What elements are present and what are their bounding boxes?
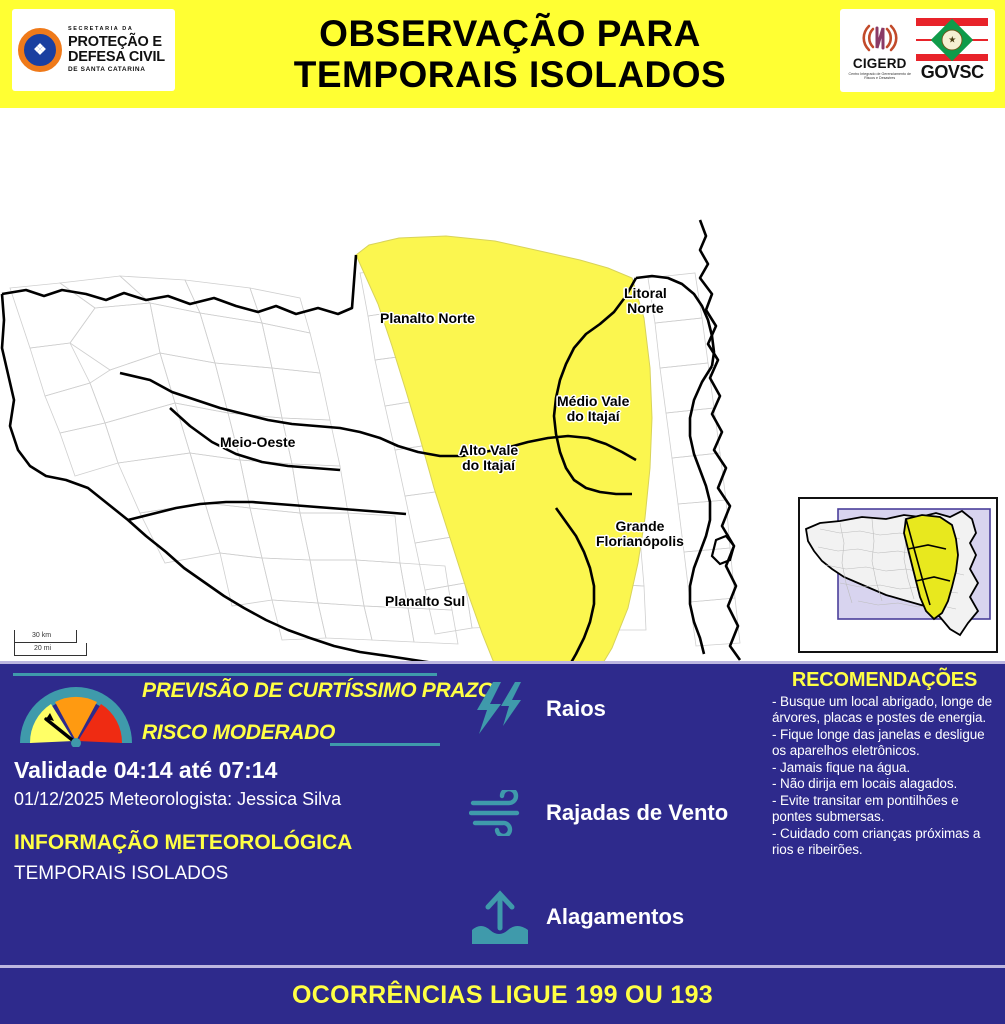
logo-pretitle: SECRETARIA DA — [68, 27, 165, 33]
hazard-item-rajadas-de-vento: Rajadas de Vento — [468, 783, 728, 843]
alert-poster: ❖ SECRETARIA DA PROTEÇÃO E DEFESA CIVIL … — [0, 0, 1005, 1024]
cigerd-waves-icon — [860, 21, 900, 55]
gov-text: GOV — [921, 62, 960, 82]
civil-defense-triangle-icon: ❖ — [33, 43, 46, 58]
hazard-label-alagamentos: Alagamentos — [546, 904, 684, 930]
wind-icon — [468, 783, 532, 843]
scale-mi-label: 20 mi — [34, 645, 51, 652]
recommendation-item: - Busque um local abrigado, longe de árv… — [772, 694, 997, 727]
hazard-list: Raios Rajadas de Vento — [468, 679, 758, 949]
panel-top-divider — [0, 661, 1005, 664]
santa-catarina-flag-icon: ★ — [916, 18, 988, 61]
lightning-icon — [468, 679, 532, 739]
meteorological-info-heading: INFORMAÇÃO METEOROLÓGICA — [14, 831, 352, 855]
risk-gauge — [16, 681, 136, 747]
hazard-item-alagamentos: Alagamentos — [468, 887, 684, 947]
logo-subtitle: DE SANTA CATARINA — [68, 67, 165, 74]
govsc-name: GOVSC — [921, 62, 984, 83]
meteorological-info-body: TEMPORAIS ISOLADOS — [14, 863, 228, 885]
forecast-rule-top — [13, 673, 437, 676]
recommendation-item: - Não dirija em locais alagados. — [772, 776, 997, 792]
inset-map-svg — [800, 499, 996, 651]
defesa-civil-emblem-icon: ❖ — [18, 28, 62, 72]
emergency-phone-text: OCORRÊNCIAS LIGUE 199 OU 193 — [0, 981, 1005, 1010]
page-title-line1: OBSERVAÇÃO PARA — [319, 13, 701, 54]
hazard-label-rajadas-de-vento: Rajadas de Vento — [546, 800, 728, 826]
forecast-rule-bottom — [330, 743, 440, 746]
meteorologist-line: 01/12/2025 Meteorologista: Jessica Silva — [14, 789, 341, 810]
cigerd-subtitle: Centro Integrado de Gerenciamento de Ris… — [846, 72, 914, 81]
recommendations-title: RECOMENDAÇÕES — [772, 669, 997, 692]
forecast-title: PREVISÃO DE CURTÍSSIMO PRAZO — [142, 679, 494, 703]
recommendation-item: - Evite transitar em pontilhões e pontes… — [772, 793, 997, 826]
hazard-label-raios: Raios — [546, 696, 606, 722]
cigerd-logo: CIGERD Centro Integrado de Gerenciamento… — [846, 21, 914, 81]
recommendations-list: - Busque um local abrigado, longe de árv… — [772, 694, 997, 859]
scale-km-label: 30 km — [32, 632, 51, 639]
risk-gauge-svg — [16, 681, 136, 747]
defesa-civil-wordmark: SECRETARIA DA PROTEÇÃO E DEFESA CIVIL DE… — [68, 27, 165, 73]
logo-line1: PROTEÇÃO E — [68, 35, 165, 50]
footer-bar: OCORRÊNCIAS LIGUE 199 OU 193 — [0, 965, 1005, 1024]
page-title: OBSERVAÇÃO PARA TEMPORAIS ISOLADOS — [190, 8, 830, 100]
state-map[interactable]: Planalto Norte Litoral Norte Médio Vale … — [0, 108, 1005, 661]
defesa-civil-logo: ❖ SECRETARIA DA PROTEÇÃO E DEFESA CIVIL … — [12, 9, 175, 91]
recommendation-item: - Cuidado com crianças próximas a rios e… — [772, 826, 997, 859]
recommendations-panel: RECOMENDAÇÕES - Busque um local abrigado… — [772, 669, 997, 859]
header-bar: ❖ SECRETARIA DA PROTEÇÃO E DEFESA CIVIL … — [0, 0, 1005, 108]
recommendation-item: - Jamais fique na água. — [772, 760, 997, 776]
page-title-line2: TEMPORAIS ISOLADOS — [294, 54, 726, 95]
map-scale-bar: 30 km 20 mi — [14, 630, 94, 658]
locator-inset-map — [798, 497, 998, 653]
risk-level-label: RISCO MODERADO — [142, 721, 335, 745]
cigerd-name: CIGERD — [853, 56, 907, 71]
partner-logos: CIGERD Centro Integrado de Gerenciamento… — [840, 9, 995, 92]
sc-text: SC — [960, 62, 984, 82]
validity-text: Validade 04:14 até 07:14 — [14, 757, 277, 784]
footer-top-divider — [0, 965, 1005, 968]
hazard-item-raios: Raios — [468, 679, 606, 739]
govsc-logo: ★ GOVSC — [915, 18, 989, 83]
recommendation-item: - Fique longe das janelas e desligue os … — [772, 727, 997, 760]
flood-icon — [468, 887, 532, 947]
info-panel: PREVISÃO DE CURTÍSSIMO PRAZO RISCO MODER… — [0, 661, 1005, 965]
logo-line2: DEFESA CIVIL — [68, 50, 165, 65]
